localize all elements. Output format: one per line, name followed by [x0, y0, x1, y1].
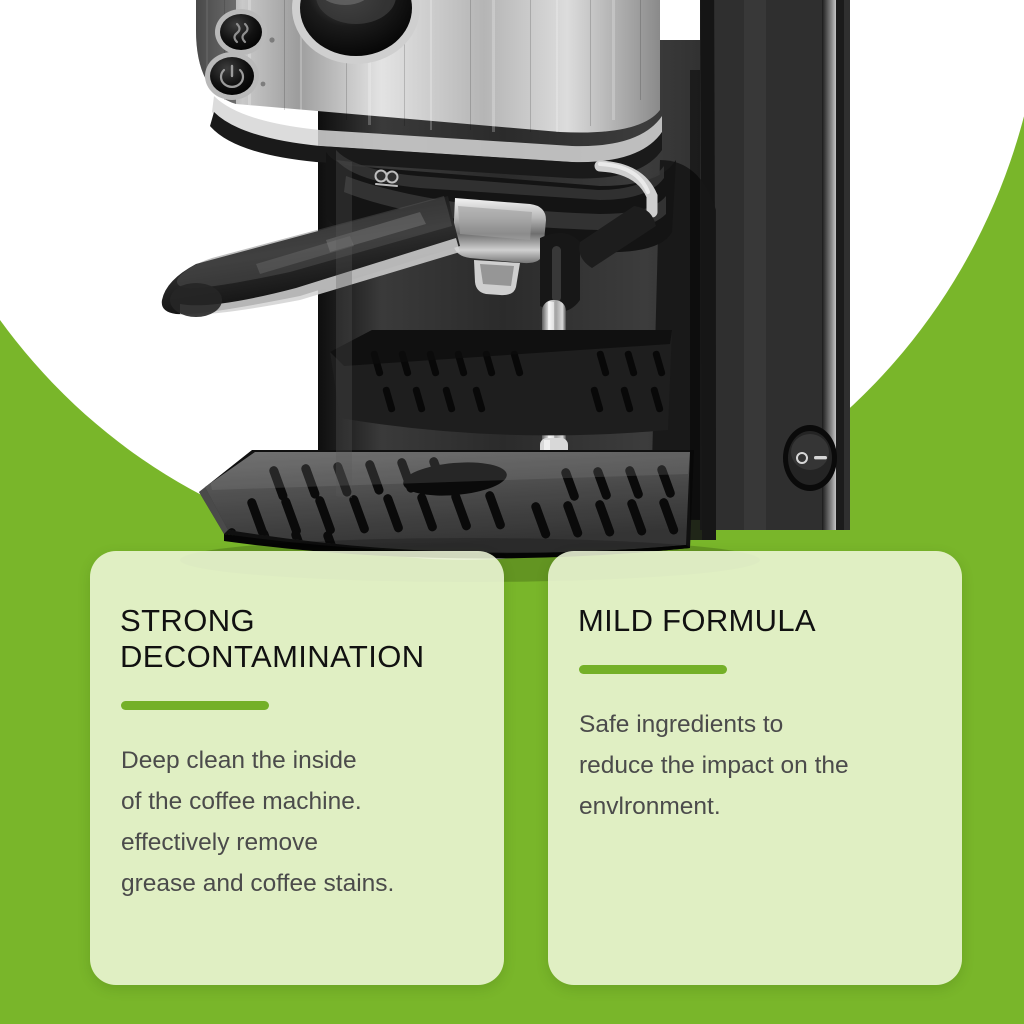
feature-cards: STRONG DECONTAMINATION Deep clean the in…	[0, 551, 1024, 987]
feature-card-body: Safe ingredients to reduce the impact on…	[579, 704, 934, 827]
feature-card-title: STRONG DECONTAMINATION	[120, 603, 476, 675]
feature-card-mild-formula[interactable]: MILD FORMULA Safe ingredients to reduce …	[548, 551, 962, 985]
steam-button	[215, 9, 267, 55]
power-button	[205, 52, 259, 100]
feature-card-body: Deep clean the inside of the coffee mach…	[121, 740, 476, 904]
product-feature-banner: STRONG DECONTAMINATION Deep clean the in…	[0, 0, 1024, 1024]
title-divider	[579, 665, 727, 674]
feature-card-strong-decontamination[interactable]: STRONG DECONTAMINATION Deep clean the in…	[90, 551, 504, 985]
rocker-power-switch	[783, 425, 837, 491]
feature-card-title: MILD FORMULA	[578, 603, 934, 639]
title-divider	[121, 701, 269, 710]
coffee-machine-image	[0, 0, 1024, 620]
